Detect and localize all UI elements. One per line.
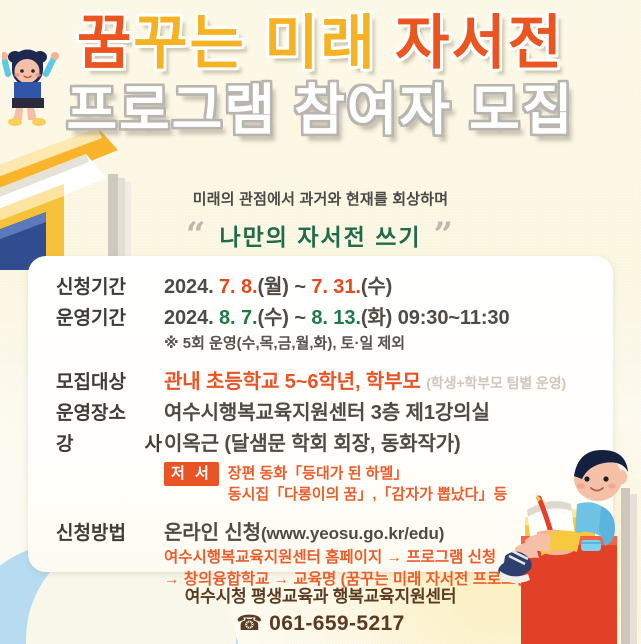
publication-line-1: 장편 동화「등대가 된 하멜」 — [228, 463, 508, 484]
label-instructor: 강사 — [56, 429, 164, 456]
apply-year: 2024. — [164, 276, 219, 298]
op-year: 2024. — [164, 307, 219, 329]
value-instructor: 이옥근 (달샘문 학회 회장, 동화작가) — [164, 427, 461, 456]
label-target-audience: 모집대상 — [56, 367, 164, 394]
value-operation-period: 2024. 8. 7.(수) ~ 8. 13.(화) 09:30~11:30 — [164, 301, 509, 330]
label-operation-period: 운영기간 — [56, 303, 164, 330]
title-word-mirae: 미래 — [246, 10, 395, 76]
value-target-audience: 관내 초등학교 5~6학년, 학부모 (학생+학부모 팀별 운영) — [164, 365, 566, 394]
op-time: (화) 09:30~11:30 — [361, 307, 510, 329]
footer-organization: 여수시청 평생교육과 행복교육지원센터 — [0, 582, 641, 607]
op-start-date: 8. 7. — [219, 307, 257, 329]
phone-icon: ☎ — [236, 612, 263, 635]
poster-subtitle-block: 미래의 관점에서 과거와 현재를 회상하며 “ 나만의 자서전 쓰기 ” — [0, 188, 641, 252]
label-instructor-char-1: 강 — [56, 429, 73, 456]
poster-header: 꿈꾸는 미래 자서전 프로그램 참여자 모집 미래의 관점에서 과거와 현재를 … — [0, 0, 641, 252]
subtitle-headline-wrap: “ 나만의 자서전 쓰기 ” — [186, 218, 455, 252]
poster-title-line-1: 꿈꾸는 미래 자서전 — [0, 12, 641, 75]
value-how-to-apply: 온라인 신청(www.yeosu.go.kr/edu) — [164, 516, 444, 545]
label-instructor-char-2: 사 — [145, 429, 162, 456]
apply-start-date: 7. 8. — [219, 276, 257, 298]
title-word-jaseojeon: 자서전 — [395, 10, 564, 76]
row-target-audience: 모집대상 관내 초등학교 5~6학년, 학부모 (학생+학부모 팀별 운영) — [28, 365, 613, 394]
apply-method: 온라인 신청 — [164, 522, 261, 544]
row-venue: 운영장소 여수시행복교육지원센터 3층 제1강의실 — [28, 396, 613, 425]
label-how-to-apply: 신청방법 — [56, 518, 164, 545]
quote-close-icon: ” — [434, 218, 456, 252]
row-application-period: 신청기간 2024. 7. 8.(월) ~ 7. 31.(수) — [28, 270, 613, 299]
apply-url[interactable]: (www.yeosu.go.kr/edu) — [261, 524, 444, 543]
row-operation-period: 운영기간 2024. 8. 7.(수) ~ 8. 13.(화) 09:30~11… — [28, 301, 613, 330]
label-venue: 운영장소 — [56, 398, 164, 425]
value-venue: 여수시행복교육지원센터 3층 제1강의실 — [164, 396, 490, 425]
publications-lines: 장편 동화「등대가 된 하멜」 동시집「다롱이의 꿈」,「감자가 뽑났다」등 — [228, 462, 508, 506]
poster-footer: 여수시청 평생교육과 행복교육지원센터 ☎ 061-659-5217 — [0, 582, 641, 636]
target-main: 관내 초등학교 5~6학년, 학부모 — [164, 371, 421, 393]
footer-contact: ☎ 061-659-5217 — [0, 611, 641, 636]
publications-badge: 저 서 — [164, 462, 219, 486]
op-end-date: 8. 13. — [311, 307, 360, 329]
title-word-kkum: 꿈 — [77, 10, 133, 76]
apply-end-day: (수) — [361, 276, 392, 298]
apply-end-date: 7. 31. — [311, 276, 360, 298]
poster-title-block: 꿈꾸는 미래 자서전 프로그램 참여자 모집 — [0, 12, 641, 139]
target-note: (학생+학부모 팀별 운영) — [426, 375, 566, 391]
publication-line-2: 동시집「다롱이의 꿈」,「감자가 뽑났다」등 — [228, 484, 508, 505]
poster-root: 꿈꾸는 미래 자서전 프로그램 참여자 모집 미래의 관점에서 과거와 현재를 … — [0, 0, 641, 644]
footer-phone-number: 061-659-5217 — [269, 612, 405, 635]
subtitle-headline: 나만의 자서전 쓰기 — [219, 218, 421, 252]
poster-title-line-2: 프로그램 참여자 모집 — [0, 81, 641, 139]
title-word-kkuneun: 꾸는 — [133, 10, 246, 76]
quote-open-icon: “ — [186, 218, 208, 252]
operation-note: ※ 5회 운영(수,목,금,월,화), 토·일 제외 — [28, 332, 613, 353]
op-mid: (수) ~ — [257, 307, 311, 329]
subtitle-tagline: 미래의 관점에서 과거와 현재를 회상하며 — [0, 188, 641, 209]
label-application-period: 신청기간 — [56, 272, 164, 299]
value-application-period: 2024. 7. 8.(월) ~ 7. 31.(수) — [164, 270, 392, 299]
apply-mid: (월) ~ — [257, 276, 311, 298]
